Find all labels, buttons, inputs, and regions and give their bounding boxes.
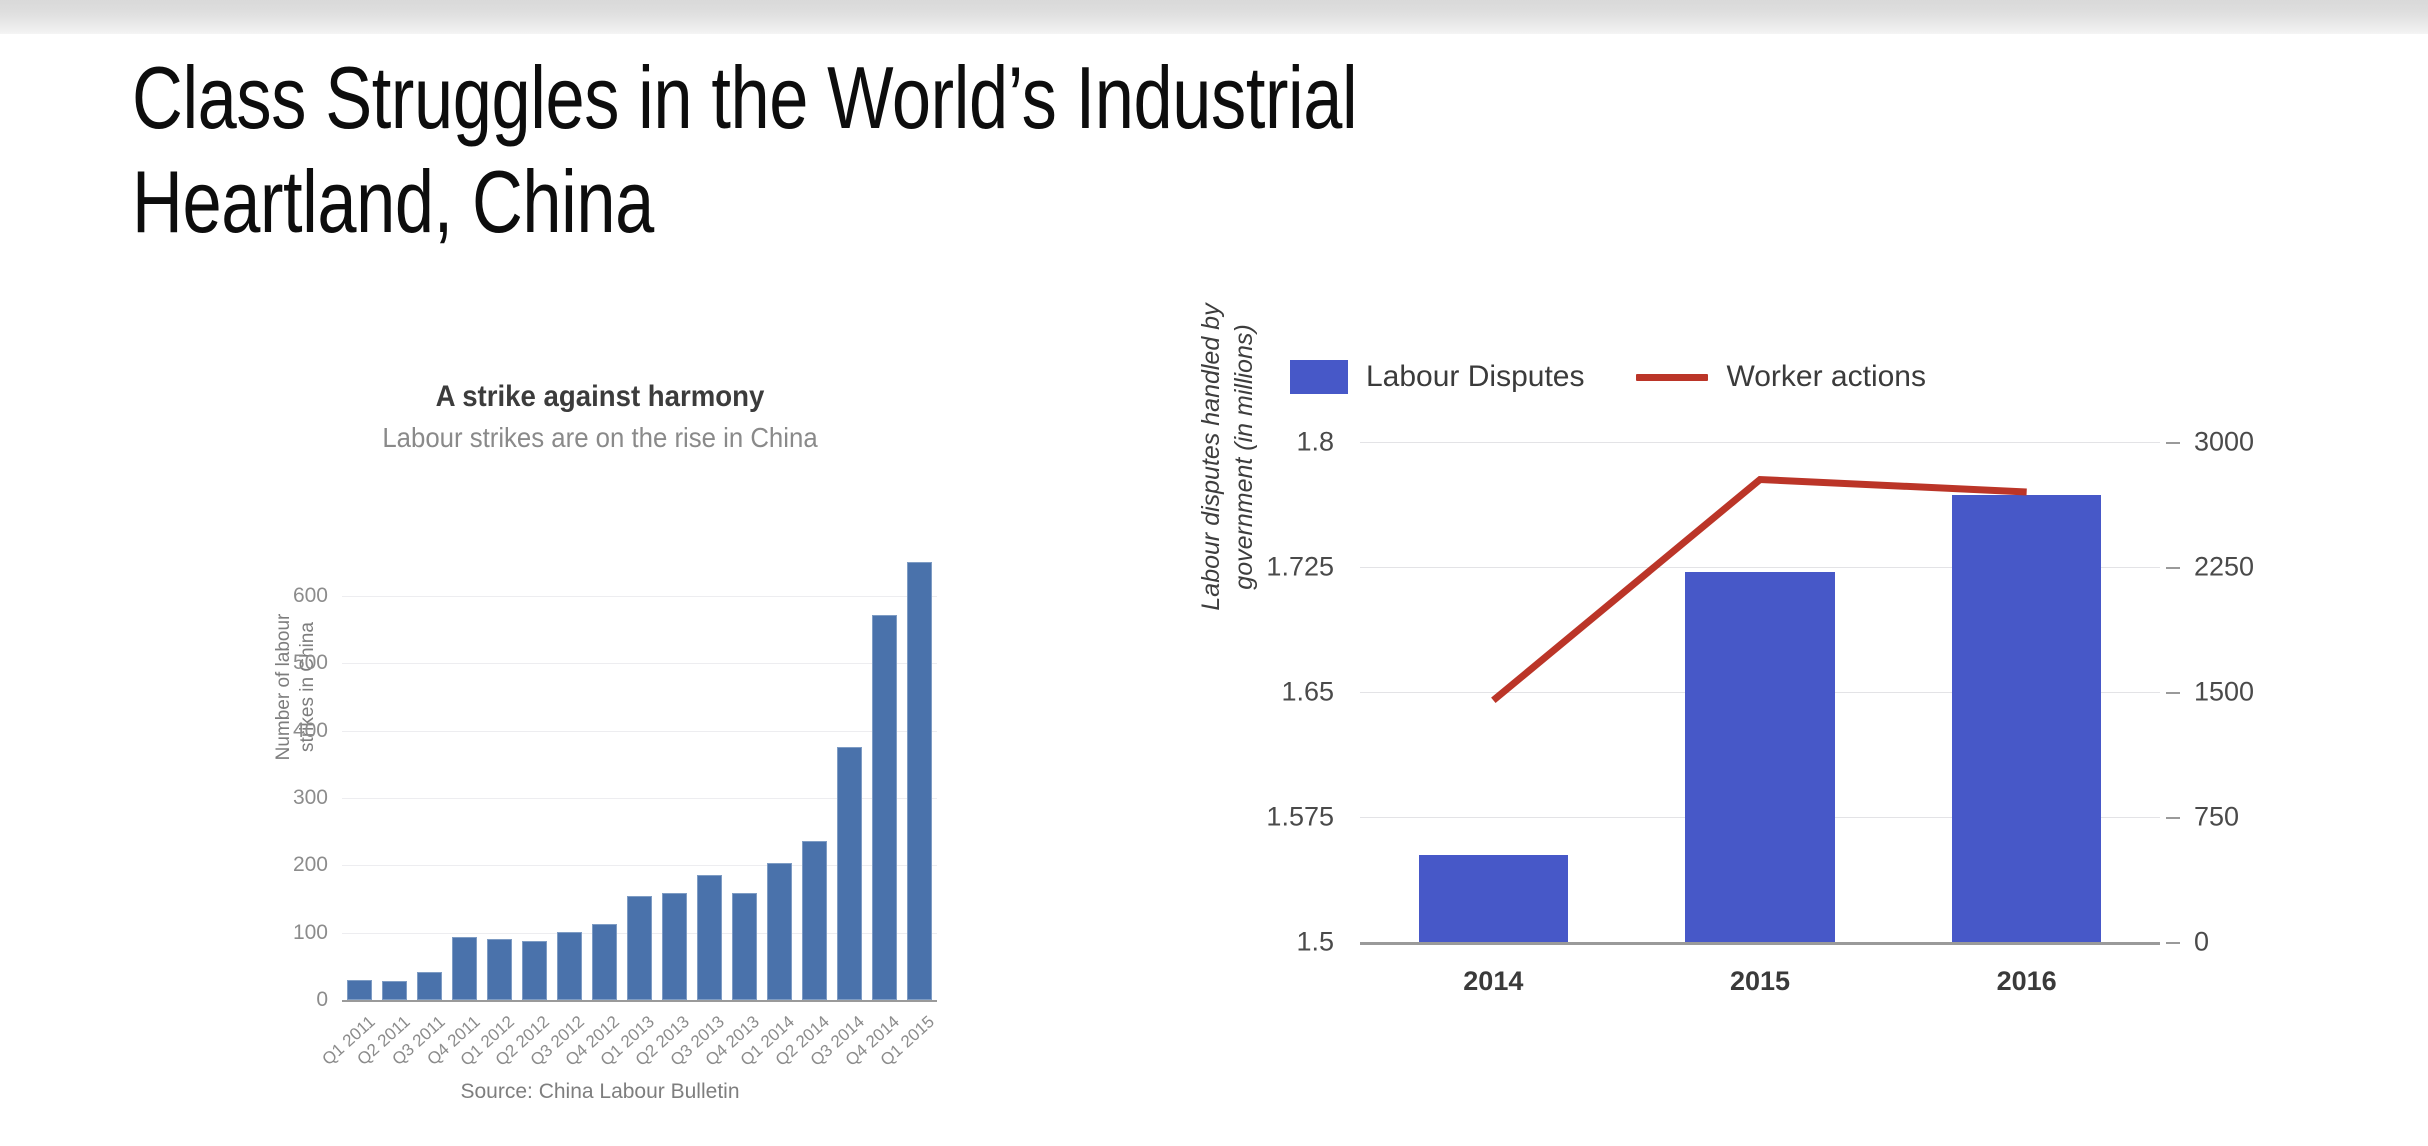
legend-swatch-icon-labour-disputes xyxy=(1290,360,1348,394)
bar xyxy=(872,615,898,1000)
left-chart-y-axis-label: Number of labour strikes in China xyxy=(272,582,320,792)
worker-actions-polyline xyxy=(1493,480,2026,701)
x-tick-label: 2015 xyxy=(1627,966,1894,997)
right-y-tick-label: 1500 xyxy=(2194,677,2254,708)
y-tick-label: 0 xyxy=(316,988,328,1012)
y-tick-label: 100 xyxy=(293,921,328,945)
y-tick-label: 200 xyxy=(293,853,328,877)
left-chart-subtitle: Labour strikes are on the rise in China xyxy=(158,422,1041,454)
bar xyxy=(487,939,513,1000)
right-chart-left-y-axis-label: Labour disputes handled by government (i… xyxy=(1195,292,1260,622)
gridline xyxy=(1360,942,2160,945)
bar xyxy=(417,972,443,1000)
left-y-tick-label: 1.65 xyxy=(1281,677,1334,708)
bar xyxy=(382,981,408,1000)
right-axis-tick-mark xyxy=(2166,692,2180,694)
left-y-tick-label: 1.575 xyxy=(1266,802,1334,833)
slide-top-gradient-band xyxy=(0,0,2428,34)
bar xyxy=(347,980,373,1000)
left-y-tick-label: 1.8 xyxy=(1296,427,1334,458)
right-y-tick-label: 0 xyxy=(2194,927,2209,958)
gridline xyxy=(342,596,937,597)
right-axis-tick-mark xyxy=(2166,942,2180,944)
right-axis-tick-mark xyxy=(2166,567,2180,569)
bar xyxy=(452,937,478,1000)
right-y-tick-label: 3000 xyxy=(2194,427,2254,458)
bar xyxy=(697,875,723,1000)
bar xyxy=(802,841,828,1000)
y-tick-label: 300 xyxy=(293,786,328,810)
legend-item-labour-disputes: Labour Disputes xyxy=(1290,360,1584,394)
bar xyxy=(907,562,933,1000)
right-chart-plot-area: Labour disputes handled by government (i… xyxy=(1360,442,2160,942)
gridline xyxy=(342,1000,937,1002)
bar xyxy=(557,932,583,1000)
gridline xyxy=(342,663,937,664)
bar xyxy=(837,747,863,1000)
bar xyxy=(592,924,618,1000)
legend-line-icon-worker-actions xyxy=(1636,374,1708,381)
left-chart-labour-strikes: A strike against harmony Labour strikes … xyxy=(120,380,1080,1120)
x-tick-label: 2016 xyxy=(1893,966,2160,997)
bar xyxy=(627,896,653,1000)
legend-label-worker-actions: Worker actions xyxy=(1726,360,1926,394)
y-tick-label: 600 xyxy=(293,584,328,608)
page-title: Class Struggles in the World’s Industria… xyxy=(132,46,1652,254)
bar xyxy=(732,893,758,1000)
left-chart-plot-area: Number of labour strikes in China 010020… xyxy=(342,542,937,1000)
left-chart-title: A strike against harmony xyxy=(158,380,1041,414)
bar xyxy=(522,941,548,1000)
right-axis-tick-mark xyxy=(2166,817,2180,819)
gridline xyxy=(342,731,937,732)
right-y-tick-label: 750 xyxy=(2194,802,2239,833)
legend-label-labour-disputes: Labour Disputes xyxy=(1366,360,1584,394)
y-tick-label: 500 xyxy=(293,651,328,675)
right-chart-worker-actions-line xyxy=(1360,442,2160,942)
left-y-tick-label: 1.5 xyxy=(1296,927,1334,958)
right-y-tick-label: 2250 xyxy=(2194,552,2254,583)
left-y-tick-label: 1.725 xyxy=(1266,552,1334,583)
legend-item-worker-actions: Worker actions xyxy=(1636,360,1926,394)
bar xyxy=(662,893,688,1000)
right-chart-legend: Labour Disputes Worker actions xyxy=(1290,360,1926,394)
right-chart-disputes-vs-actions: Labour Disputes Worker actions Labour di… xyxy=(1150,360,2420,1120)
left-chart-source-note: Source: China Labour Bulletin xyxy=(120,1080,1080,1104)
y-tick-label: 400 xyxy=(293,719,328,743)
bar xyxy=(767,863,793,1000)
right-axis-tick-mark xyxy=(2166,442,2180,444)
x-tick-label: 2014 xyxy=(1360,966,1627,997)
